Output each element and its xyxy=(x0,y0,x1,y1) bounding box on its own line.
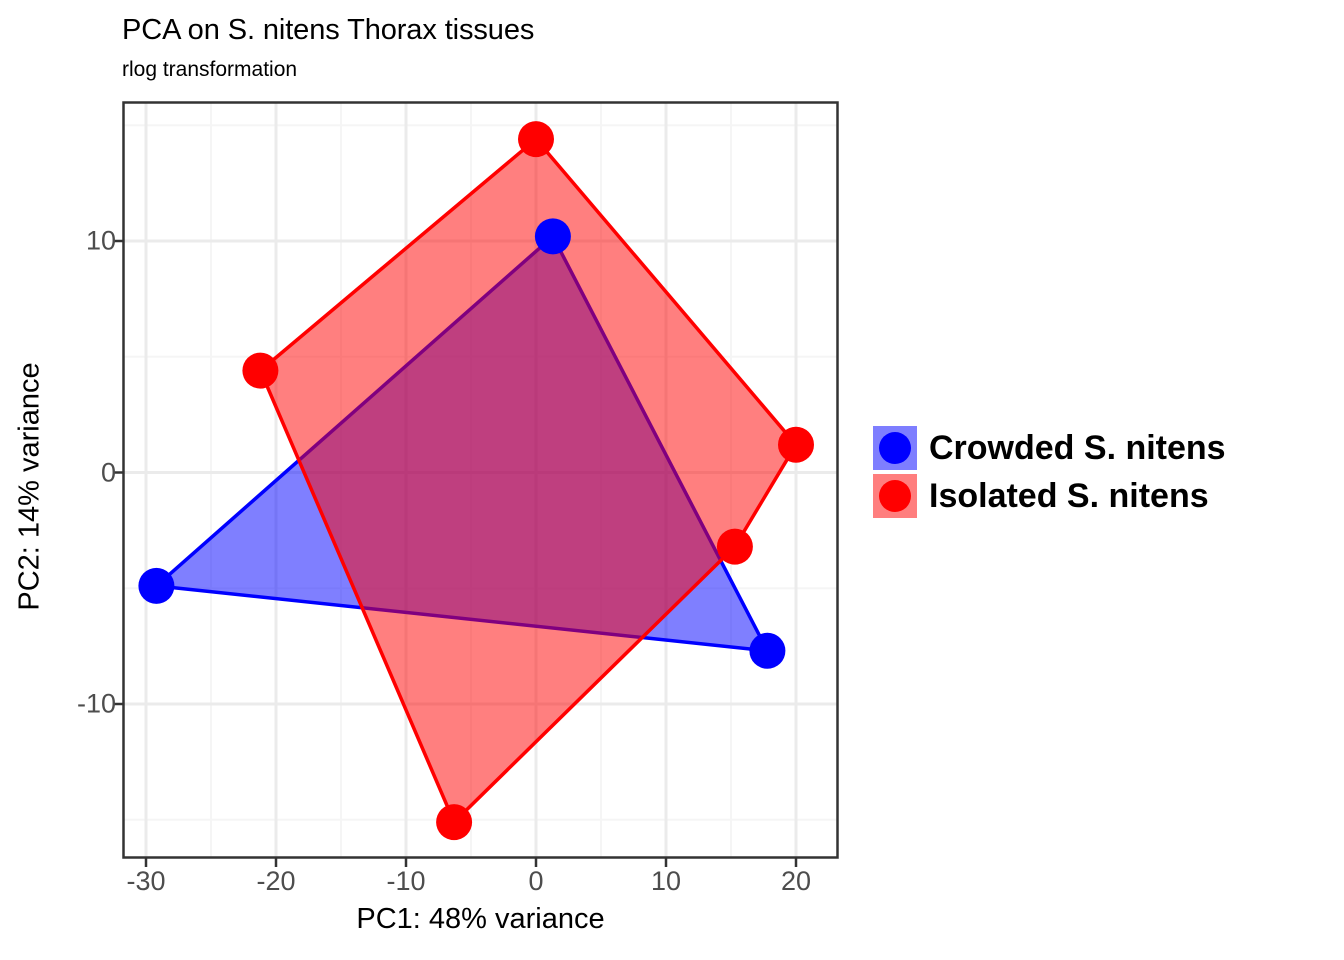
x-tick-label: -10 xyxy=(386,866,425,897)
x-tick-label: -30 xyxy=(126,866,165,897)
data-point[interactable] xyxy=(518,121,554,157)
data-point[interactable] xyxy=(242,353,278,389)
pca-scatter-plot: PCA on S. nitens Thorax tissues rlog tra… xyxy=(0,0,1344,960)
x-tick-label: 0 xyxy=(528,866,543,897)
data-point[interactable] xyxy=(535,218,571,254)
y-tick-label: -10 xyxy=(77,689,116,720)
data-point[interactable] xyxy=(749,633,785,669)
data-point[interactable] xyxy=(778,427,814,463)
y-tick-label: 10 xyxy=(86,226,116,257)
x-tick-label: 20 xyxy=(781,866,811,897)
legend-label: Isolated S. nitens xyxy=(929,479,1209,513)
legend-key-isolated[interactable] xyxy=(873,474,917,518)
data-point[interactable] xyxy=(436,804,472,840)
x-axis-label: PC1: 48% variance xyxy=(123,903,838,936)
legend-label: Crowded S. nitens xyxy=(929,431,1226,465)
legend-item[interactable]: Crowded S. nitens xyxy=(873,424,1226,472)
legend-item[interactable]: Isolated S. nitens xyxy=(873,472,1226,520)
x-tick-label: -20 xyxy=(256,866,295,897)
legend: Crowded S. nitensIsolated S. nitens xyxy=(873,424,1226,520)
legend-point-icon xyxy=(879,432,911,464)
y-axis-label: PC2: 14% variance xyxy=(14,107,47,867)
data-point[interactable] xyxy=(138,568,174,604)
y-tick-label: 0 xyxy=(101,457,116,488)
x-tick-label: 10 xyxy=(651,866,681,897)
legend-point-icon xyxy=(879,480,911,512)
legend-key-crowded[interactable] xyxy=(873,426,917,470)
data-point[interactable] xyxy=(717,529,753,565)
